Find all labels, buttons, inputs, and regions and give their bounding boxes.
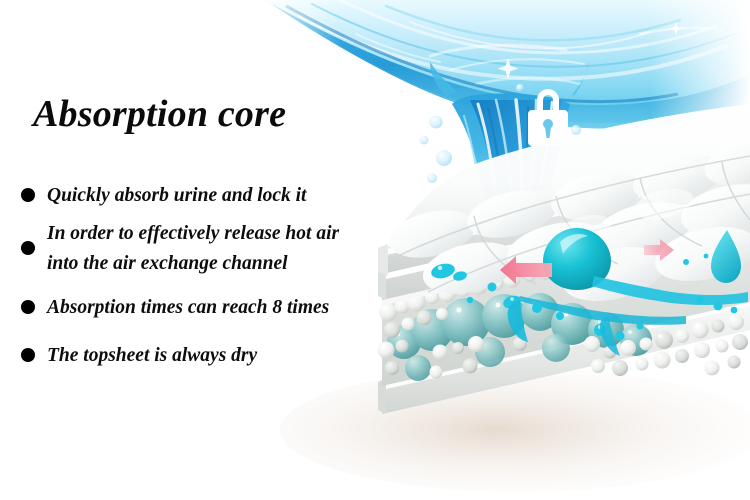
sparkle — [498, 22, 683, 79]
bullet-line-1: Absorption times can reach 8 times — [47, 297, 329, 318]
bullet-dot-icon — [21, 241, 35, 255]
bullet-dot-icon — [21, 300, 35, 314]
topsheet-surface — [382, 104, 750, 310]
bullet-item-hot-air: In order to effectively release hot air … — [21, 219, 339, 279]
core-top-edge — [382, 212, 750, 306]
absorbed-liquid-beads — [387, 293, 652, 381]
bullet-line-2: into the air exchange channel — [47, 249, 339, 279]
bubbles — [420, 84, 606, 279]
backsheet — [382, 300, 750, 414]
topsheet-domes-mid — [418, 176, 750, 302]
surface-liquid — [430, 228, 748, 356]
bullet-dot-icon — [21, 348, 35, 362]
bullet-line-1: Quickly absorb urine and lock it — [47, 185, 306, 206]
poster-canvas: Absorption core Quickly absorb urine and… — [0, 0, 750, 500]
arrow-right-icon — [644, 239, 674, 261]
absorbent-core-block — [378, 104, 750, 414]
text-panel: Absorption core Quickly absorb urine and… — [0, 0, 400, 500]
water-stream — [420, 60, 606, 279]
page-title: Absorption core — [33, 92, 286, 136]
lock-icon — [528, 89, 568, 146]
bullet-text: The topsheet is always dry — [47, 341, 257, 371]
bullet-item-quick-absorb: Quickly absorb urine and lock it — [21, 181, 306, 211]
side-droplet — [711, 230, 741, 283]
topsheet-domes-back — [384, 136, 750, 265]
topsheet-domes-front — [558, 218, 750, 310]
bullet-text: In order to effectively release hot air … — [47, 219, 339, 279]
bullet-line-1: In order to effectively release hot air — [47, 219, 339, 249]
bullet-item-topsheet-dry: The topsheet is always dry — [21, 341, 257, 371]
bullet-dot-icon — [21, 188, 35, 202]
bullet-text: Quickly absorb urine and lock it — [47, 181, 306, 211]
acquisition-layer-edge — [382, 188, 750, 300]
bullet-item-absorption-times: Absorption times can reach 8 times — [21, 293, 329, 323]
bullet-line-1: The topsheet is always dry — [47, 345, 257, 366]
topsheet-edge — [382, 166, 750, 274]
arrow-left-icon — [500, 256, 552, 284]
bullet-text: Absorption times can reach 8 times — [47, 293, 329, 323]
main-droplet — [543, 228, 611, 290]
sap-granules — [378, 221, 749, 379]
sap-core-body — [382, 216, 750, 386]
